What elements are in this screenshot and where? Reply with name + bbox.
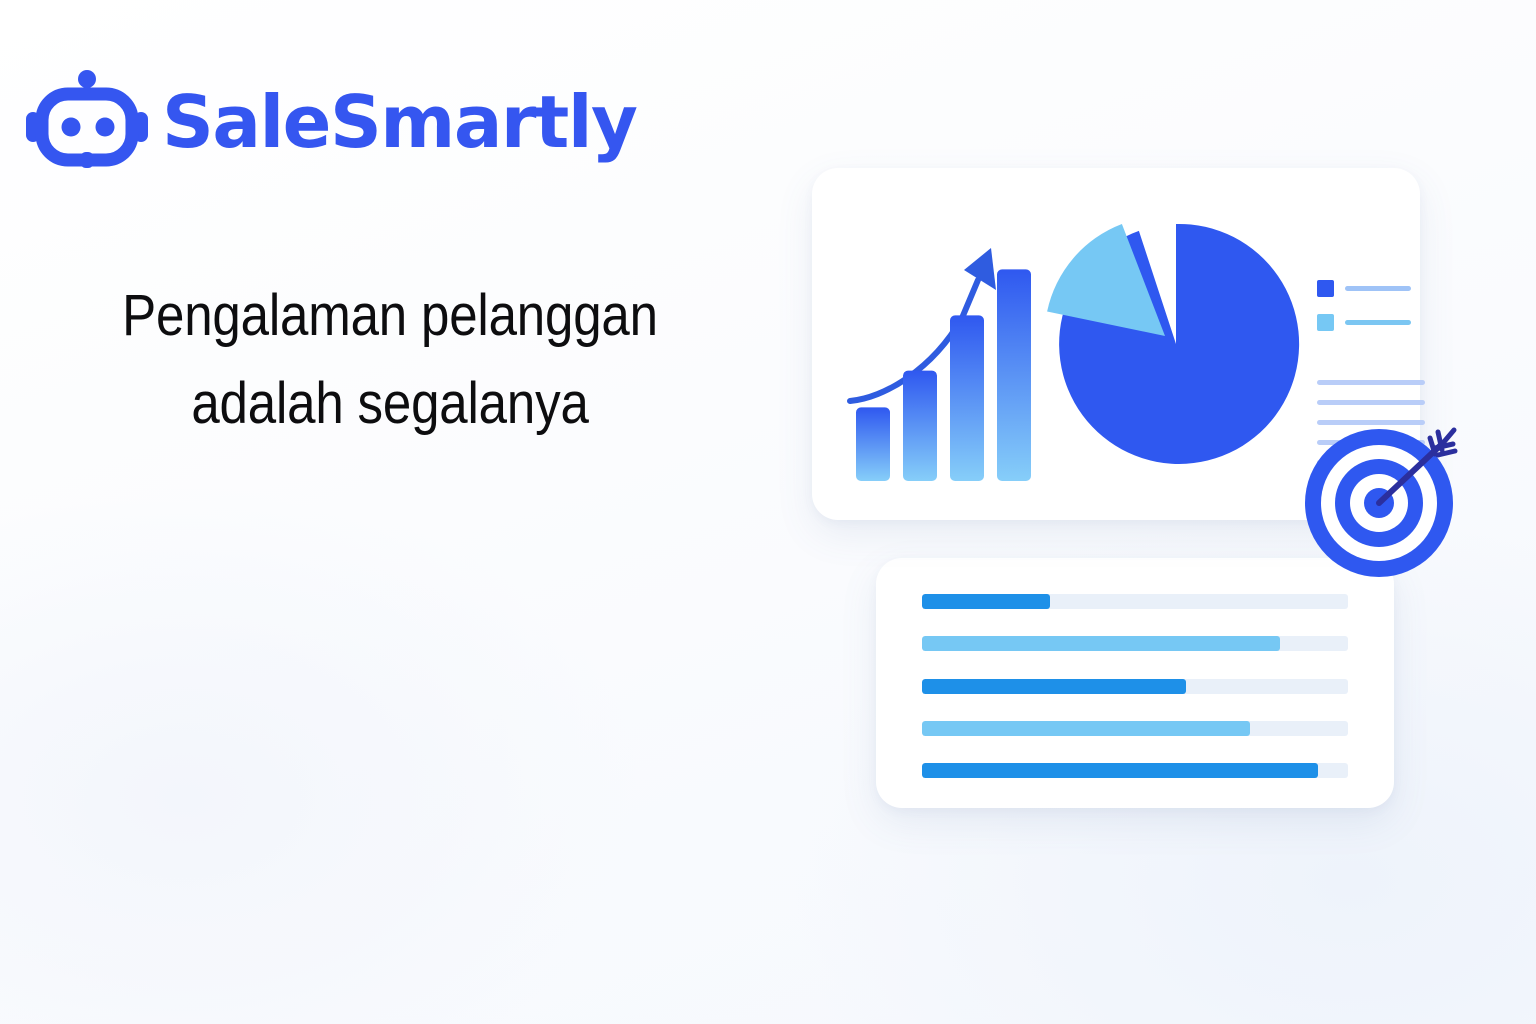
target-bullseye-icon: [1302, 420, 1462, 580]
legend-swatch-secondary: [1317, 314, 1334, 331]
legend-item: [1317, 280, 1425, 297]
chart-legend: [1317, 280, 1425, 348]
progress-bar-track: [922, 636, 1348, 651]
progress-bar-list: [922, 594, 1348, 778]
placeholder-line: [1317, 400, 1425, 405]
progress-bar-fill: [922, 636, 1280, 651]
headline-line-2: adalah segalanya: [82, 360, 698, 448]
hero-banner: SaleSmartly Pengalaman pelanggan adalah …: [0, 0, 1536, 1024]
bar-chart: [846, 208, 1046, 488]
legend-label-placeholder: [1345, 286, 1411, 291]
left-content-column: SaleSmartly Pengalaman pelanggan adalah …: [0, 0, 760, 1024]
progress-bar-fill: [922, 594, 1050, 609]
pie-chart: [1044, 218, 1304, 478]
legend-label-placeholder: [1345, 320, 1411, 325]
robot-icon: [26, 70, 148, 174]
progress-card: [876, 558, 1394, 808]
legend-swatch-primary: [1317, 280, 1334, 297]
legend-item: [1317, 314, 1425, 331]
progress-bar-track: [922, 679, 1348, 694]
progress-bar-fill: [922, 763, 1318, 778]
progress-bar-fill: [922, 721, 1250, 736]
analytics-illustration: [790, 140, 1510, 840]
progress-bar-track: [922, 594, 1348, 609]
brand-wordmark: SaleSmartly: [162, 86, 636, 158]
brand-lockup: SaleSmartly: [26, 70, 636, 174]
progress-bar-track: [922, 763, 1348, 778]
page-title: Pengalaman pelanggan adalah segalanya: [82, 272, 698, 448]
headline-line-1: Pengalaman pelanggan: [82, 272, 698, 360]
placeholder-line: [1317, 380, 1425, 385]
progress-bar-track: [922, 721, 1348, 736]
progress-bar-fill: [922, 679, 1186, 694]
